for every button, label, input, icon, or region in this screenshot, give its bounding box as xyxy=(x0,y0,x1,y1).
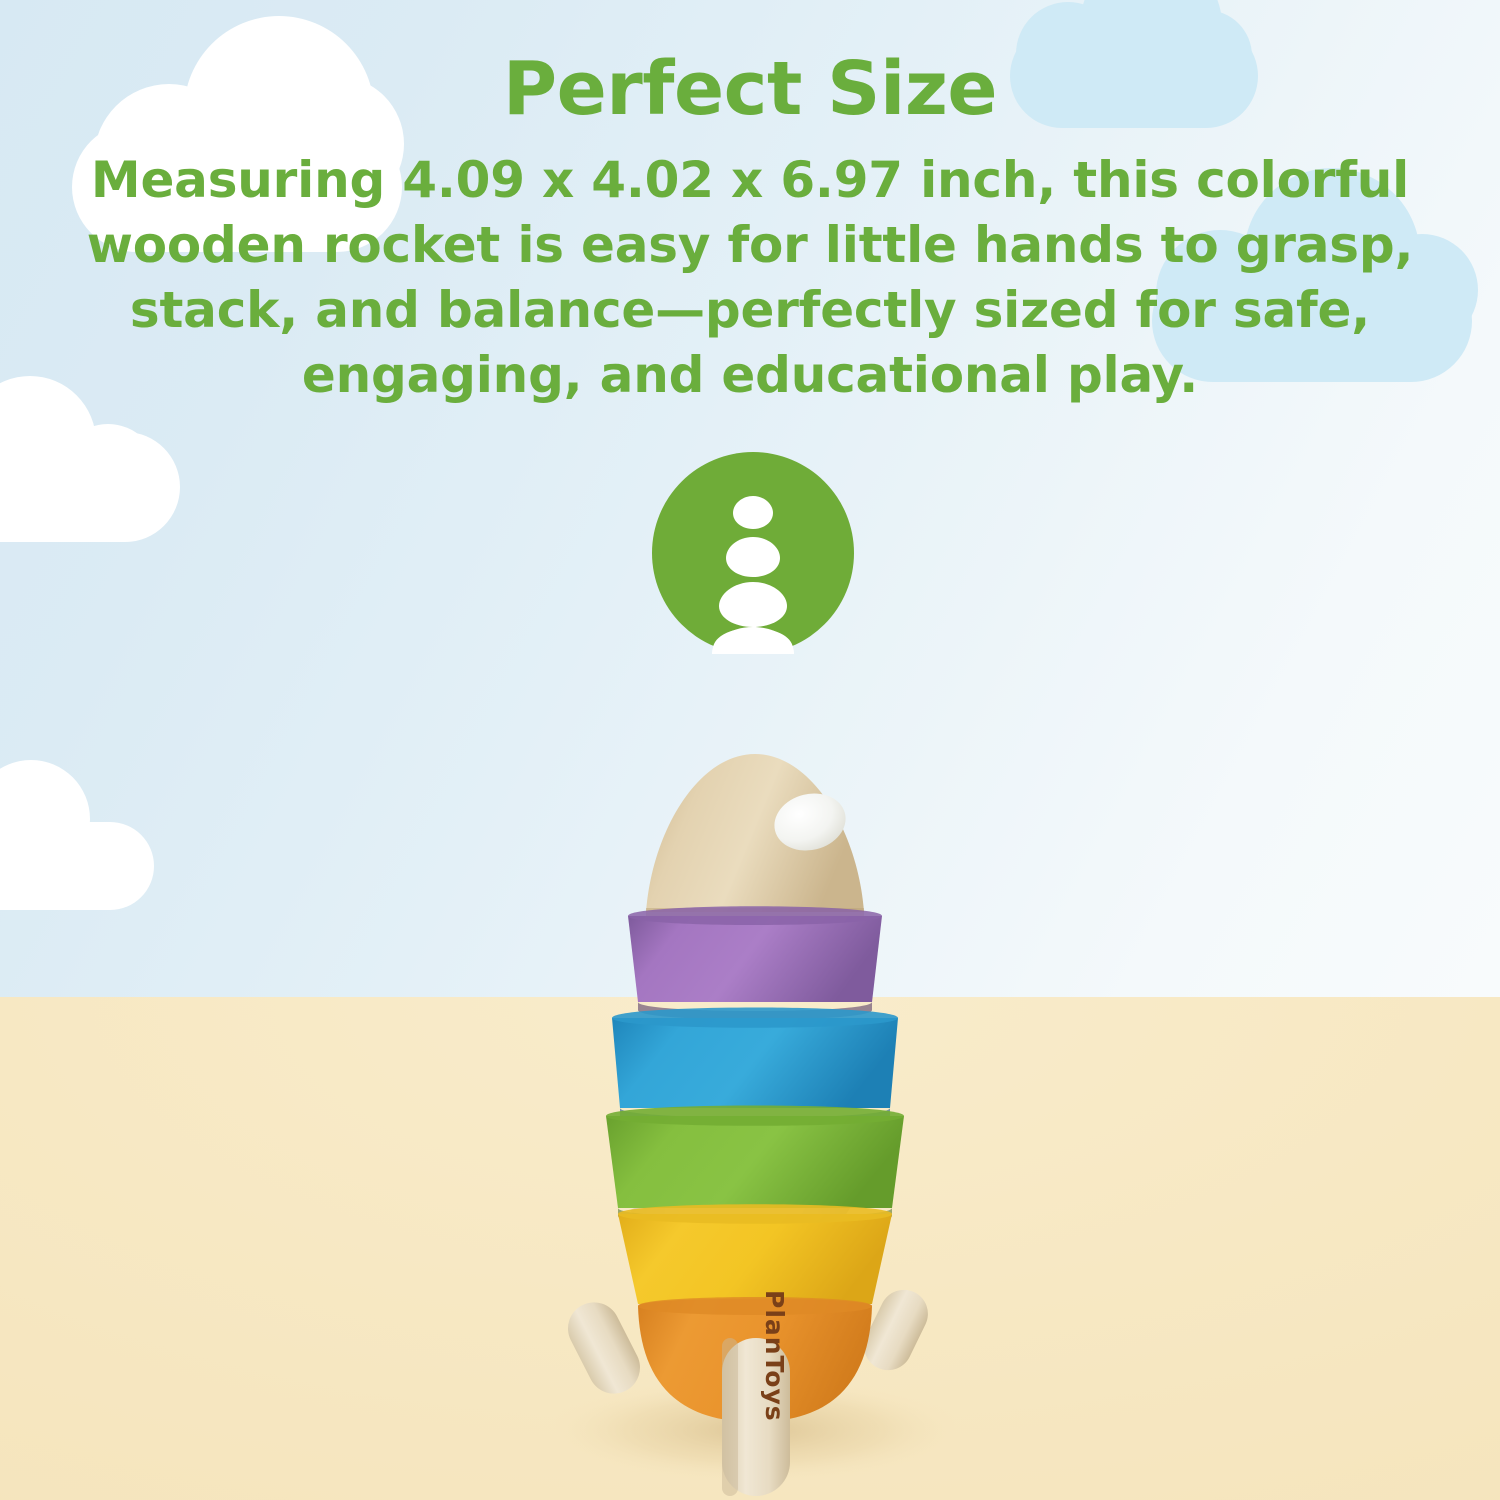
ring-purple xyxy=(628,916,882,1002)
stacking-rocket-badge xyxy=(652,452,854,654)
wooden-stacking-rocket-product xyxy=(520,740,990,1500)
brand-label: PlanToys xyxy=(760,1290,789,1422)
stacking-rocket-icon xyxy=(652,452,854,654)
cloud-bottom-left-icon xyxy=(0,760,154,910)
ring-yellow xyxy=(618,1214,892,1304)
page-title: Perfect Size xyxy=(0,0,1500,126)
copy-block: Perfect Size Measuring 4.09 x 4.02 x 6.9… xyxy=(0,0,1500,408)
promo-image-canvas: Perfect Size Measuring 4.09 x 4.02 x 6.9… xyxy=(0,0,1500,1500)
ring-green xyxy=(606,1116,904,1208)
ring-blue xyxy=(612,1018,898,1108)
description-text: Measuring 4.09 x 4.02 x 6.97 inch, this … xyxy=(54,126,1446,408)
